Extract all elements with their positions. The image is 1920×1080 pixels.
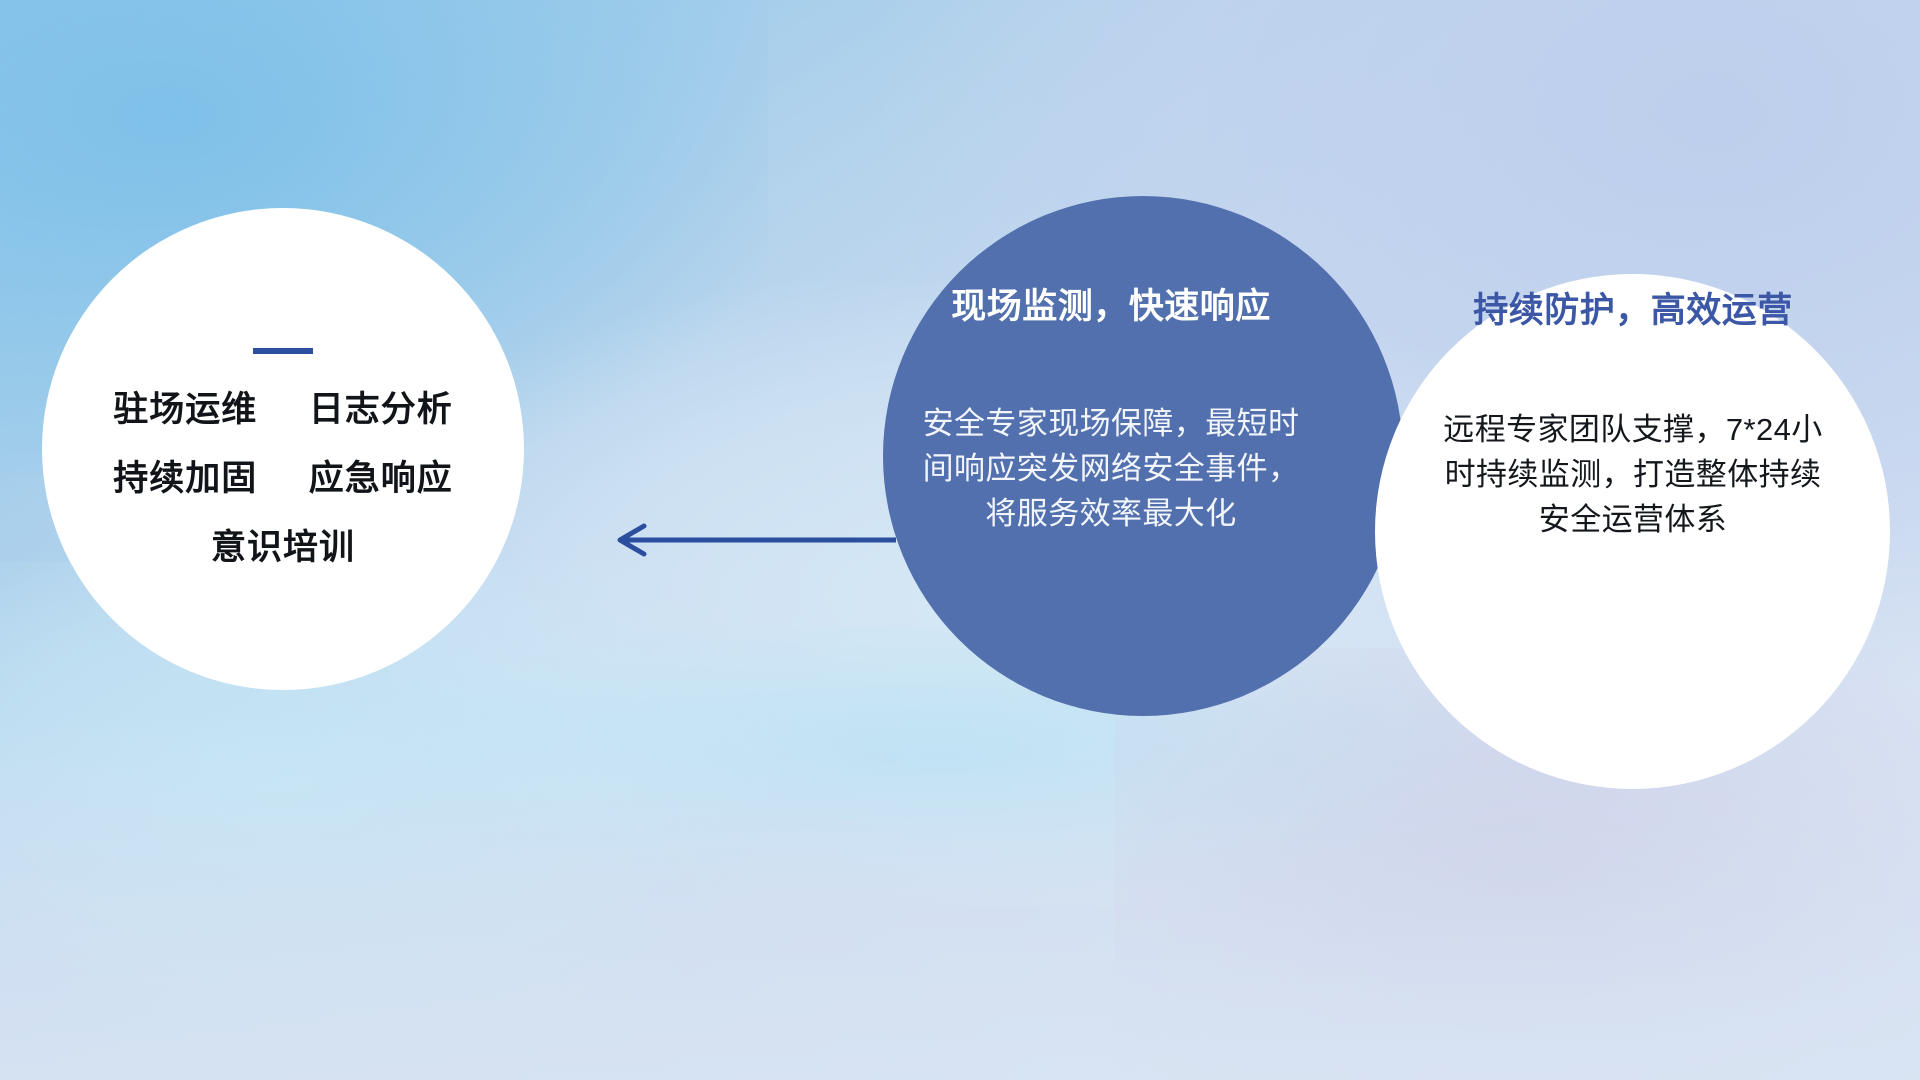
service-label: 日志分析 xyxy=(309,390,453,429)
onsite-body-text: 安全专家现场保障，最短时间响应突发网络安全事件，将服务效率最大化 xyxy=(921,401,1301,537)
slide-canvas: 驻场运维 日志分析 持续加固 应急响应 意识培训 现场监测，快速响应 安全专家现… xyxy=(0,0,1920,1080)
service-row: 驻场运维 日志分析 xyxy=(42,392,524,427)
service-label: 应急响应 xyxy=(309,459,453,498)
service-row: 持续加固 应急响应 xyxy=(42,461,524,496)
onsite-content: 现场监测，快速响应 安全专家现场保障，最短时间响应突发网络安全事件，将服务效率最… xyxy=(921,288,1301,536)
continuous-content: 持续防护，高效运营 远程专家团队支撑，7*24小时持续监测，打造整体持续安全运营… xyxy=(1433,292,1833,542)
service-label: 持续加固 xyxy=(113,459,257,498)
onsite-monitoring-circle[interactable]: 现场监测，快速响应 安全专家现场保障，最短时间响应突发网络安全事件，将服务效率最… xyxy=(883,196,1403,716)
title-divider-dash xyxy=(253,348,313,354)
onsite-title: 现场监测，快速响应 xyxy=(921,288,1301,327)
services-content: 驻场运维 日志分析 持续加固 应急响应 意识培训 xyxy=(42,348,524,565)
continuous-body-text: 远程专家团队支撑，7*24小时持续监测，打造整体持续安全运营体系 xyxy=(1433,407,1833,543)
service-label: 驻场运维 xyxy=(113,390,257,429)
services-circle[interactable]: 驻场运维 日志分析 持续加固 应急响应 意识培训 xyxy=(42,208,524,690)
arrow-left-icon xyxy=(600,500,900,580)
continuous-title: 持续防护，高效运营 xyxy=(1433,292,1833,331)
continuous-operations-circle[interactable]: 持续防护，高效运营 远程专家团队支撑，7*24小时持续监测，打造整体持续安全运营… xyxy=(1375,274,1890,789)
service-row: 意识培训 xyxy=(42,530,524,565)
service-label: 意识培训 xyxy=(211,528,355,567)
